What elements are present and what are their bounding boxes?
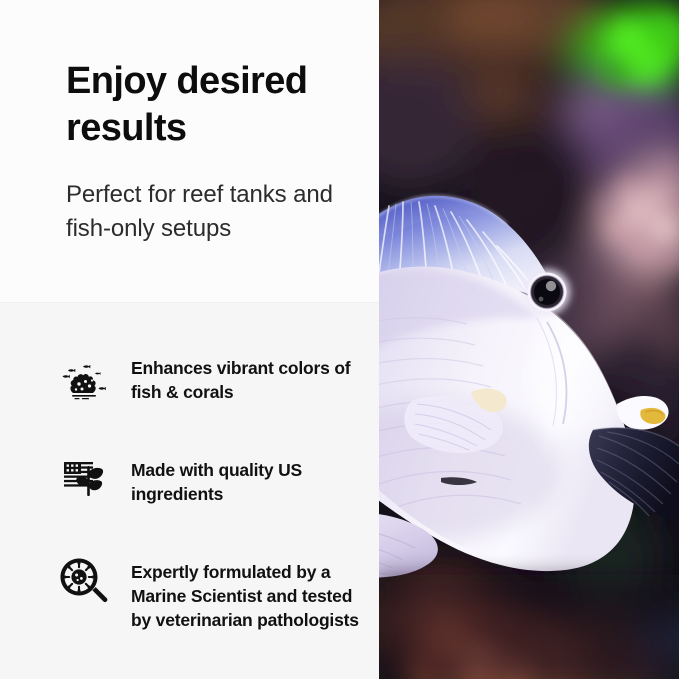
section-divider xyxy=(0,302,379,303)
page-subtitle: Perfect for reef tanks and fish-only set… xyxy=(66,178,366,246)
page-title: Enjoy desired results xyxy=(66,58,371,152)
list-item-label: Made with quality US ingredients xyxy=(131,458,369,506)
magnifier-microbe-icon xyxy=(55,553,113,611)
coral-reef-fish-icon xyxy=(55,353,113,411)
content-panel: Enjoy desired results Perfect for reef t… xyxy=(0,0,379,679)
list-item-label: Expertly formulated by a Marine Scientis… xyxy=(131,560,369,632)
list-item-label: Enhances vibrant colors of fish & corals xyxy=(131,356,369,404)
hero-block: Enjoy desired results Perfect for reef t… xyxy=(0,0,379,303)
product-photo xyxy=(379,0,679,679)
product-feature-card: Enjoy desired results Perfect for reef t… xyxy=(0,0,679,679)
us-flag-plant-icon xyxy=(55,449,113,507)
